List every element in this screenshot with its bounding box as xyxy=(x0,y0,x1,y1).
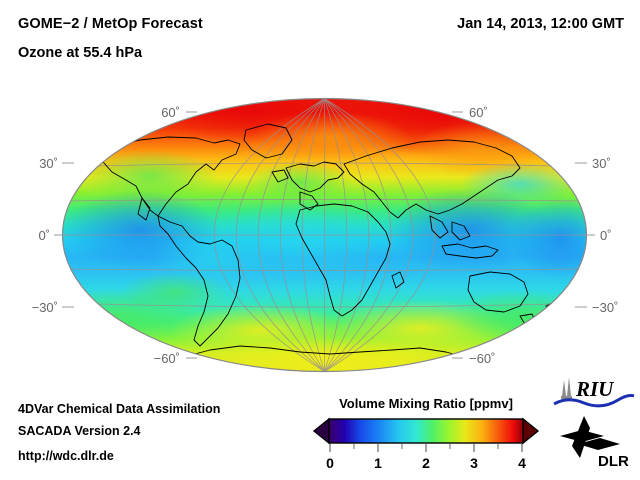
product-title: Ozone at 55.4 hPa xyxy=(18,45,142,61)
colorbar-tick-2: 2 xyxy=(422,455,430,471)
lat-label-left-30n: 30˚ xyxy=(39,156,58,171)
lat-label-left-60n: 60˚ xyxy=(161,105,180,120)
lat-label-left-60s: −60˚ xyxy=(154,351,180,366)
riu-logo: RIU xyxy=(552,374,636,414)
lat-label-left-30s: −30˚ xyxy=(32,300,58,315)
lat-label-left-0: 0˚ xyxy=(38,228,50,243)
colorbar-tick-4: 4 xyxy=(518,455,526,471)
footer-method: 4DVar Chemical Data Assimilation xyxy=(18,402,220,416)
colorbar-under-cap xyxy=(314,419,329,443)
colorbar-tick-1: 1 xyxy=(374,455,382,471)
lat-label-right-0: 0˚ xyxy=(600,228,612,243)
forecast-datetime: Jan 14, 2013, 12:00 GMT xyxy=(457,16,624,32)
colorbar-ticks xyxy=(330,444,522,452)
lat-label-right-60s: −60˚ xyxy=(469,351,495,366)
colorbar-over-cap xyxy=(523,419,538,443)
lat-label-right-60n: 60˚ xyxy=(469,105,488,120)
colorbar-tick-3: 3 xyxy=(470,455,478,471)
footer-url[interactable]: http://wdc.dlr.de xyxy=(18,449,114,463)
lat-label-right-30s: −30˚ xyxy=(592,300,618,315)
colorbar-title: Volume Mixing Ratio [ppmv] xyxy=(312,396,540,411)
riu-logo-text: RIU xyxy=(575,377,615,401)
instrument-title: GOME−2 / MetOp Forecast xyxy=(18,16,203,32)
ozone-field xyxy=(35,80,610,380)
dlr-logo-text: DLR xyxy=(598,453,629,470)
colorbar-tick-0: 0 xyxy=(326,455,334,471)
colorbar: Volume Mixing Ratio [ppmv] xyxy=(312,396,540,476)
dlr-logo: DLR xyxy=(558,414,636,474)
footer-version: SACADA Version 2.4 xyxy=(18,424,141,438)
lat-label-right-30n: 30˚ xyxy=(592,156,611,171)
ozone-map: 60˚ 30˚ 0˚ −30˚ −60˚ 60˚ 30˚ 0˚ −30˚ −60… xyxy=(0,80,640,390)
colorbar-gradient xyxy=(329,419,523,443)
